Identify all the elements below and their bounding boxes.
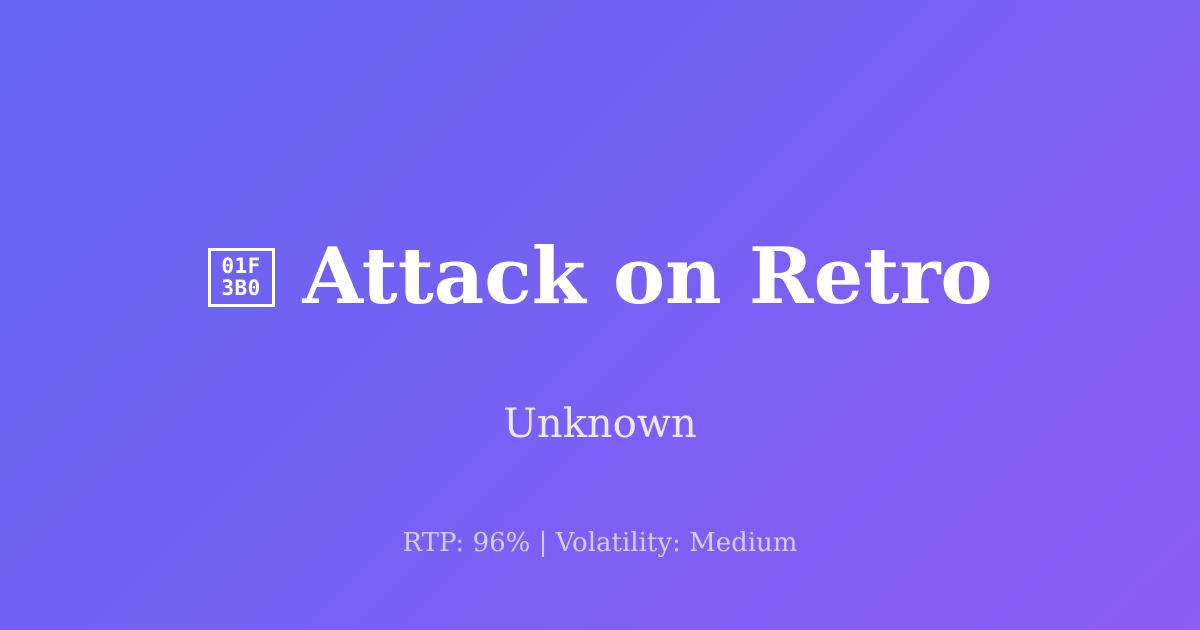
title-row: 01F 3B0 Attack on Retro xyxy=(208,186,993,369)
game-og-card: 01F 3B0 Attack on Retro Unknown RTP: 96%… xyxy=(0,0,1200,630)
tofu-codepoint-upper: 01F xyxy=(221,255,260,277)
game-provider-subtitle: Unknown xyxy=(503,404,697,444)
tofu-codepoint-lower: 3B0 xyxy=(221,277,260,299)
game-meta-line: RTP: 96% | Volatility: Medium xyxy=(0,530,1200,556)
page-title: Attack on Retro xyxy=(303,238,993,316)
slot-machine-icon: 01F 3B0 xyxy=(208,248,275,307)
